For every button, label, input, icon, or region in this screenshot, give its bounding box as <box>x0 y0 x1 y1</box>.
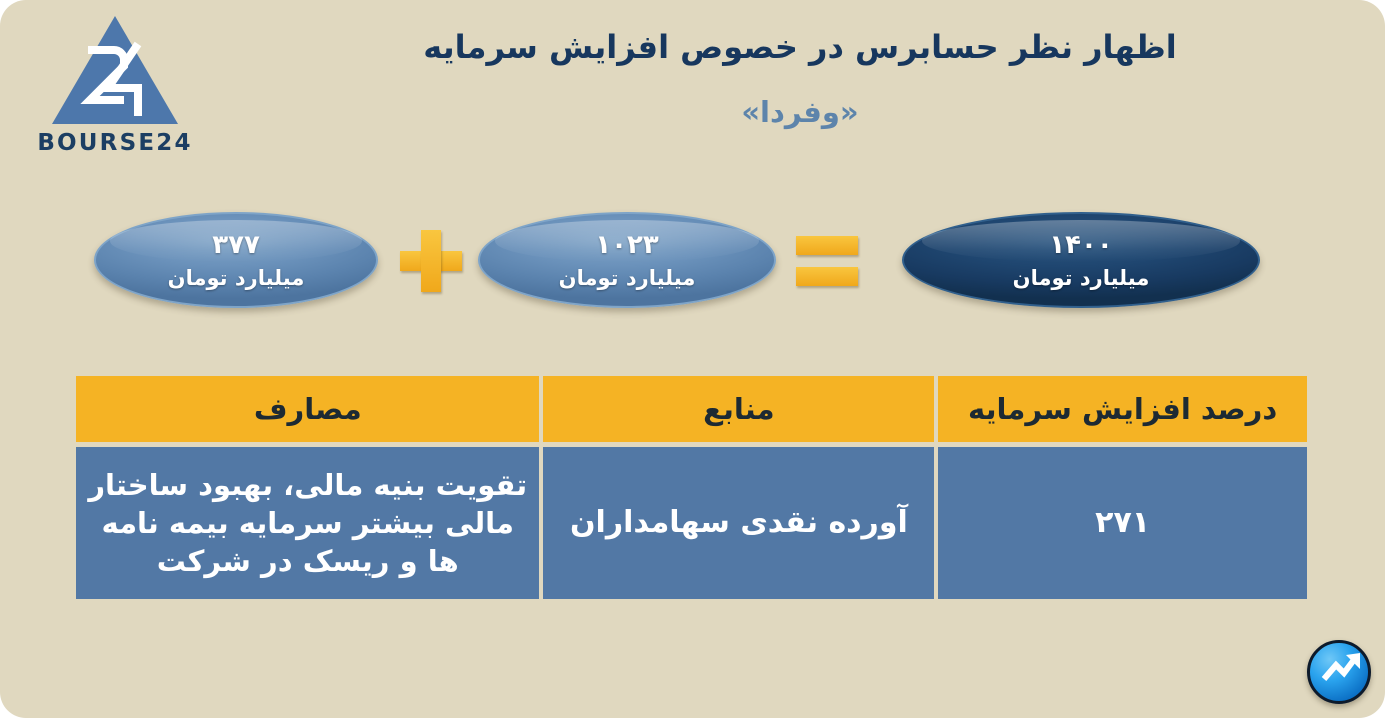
cell-sources: آورده نقدی سهامداران <box>543 447 934 599</box>
pill-value: ۳۷۷ <box>212 230 260 260</box>
summary-table: درصد افزایش سرمایه منابع مصارف ۲۷۱ آورده… <box>76 376 1307 599</box>
table-header-row: درصد افزایش سرمایه منابع مصارف <box>76 376 1307 442</box>
brand-logo: BOURSE24 <box>32 14 198 154</box>
pill-value: ۱۴۰۰ <box>1049 230 1112 260</box>
page-subtitle: «وفردا» <box>330 94 1270 132</box>
infographic-canvas: BOURSE24 اظهار نظر حسابرس در خصوص افزایش… <box>0 0 1385 718</box>
bourse24-triangle-logo-icon <box>50 14 180 126</box>
uptrend-chart-badge-icon <box>1307 640 1371 704</box>
brand-wordmark: BOURSE24 <box>32 130 198 156</box>
uptrend-arrow-glyph <box>1316 643 1368 695</box>
plus-icon <box>400 230 462 292</box>
value-pill-2: ۱۰۲۳ میلیارد تومان <box>478 212 776 308</box>
page-title: اظهار نظر حسابرس در خصوص افزایش سرمایه <box>330 26 1270 69</box>
cell-uses: تقویت بنیه مالی، بهبود ساختار مالی بیشتر… <box>76 447 539 599</box>
pill-value: ۱۰۲۳ <box>595 230 658 260</box>
equals-icon <box>796 234 858 288</box>
pill-unit: میلیارد تومان <box>168 266 305 290</box>
header-percent: درصد افزایش سرمایه <box>938 376 1307 442</box>
value-pill-1: ۳۷۷ میلیارد تومان <box>94 212 378 308</box>
header-uses: مصارف <box>76 376 539 442</box>
cell-percent: ۲۷۱ <box>938 447 1307 599</box>
value-pill-total: ۱۴۰۰ میلیارد تومان <box>902 212 1260 308</box>
table-row: ۲۷۱ آورده نقدی سهامداران تقویت بنیه مالی… <box>76 447 1307 599</box>
equation-row: ۳۷۷ میلیارد تومان ۱۰۲۳ میلیارد تومان ۱۴۰… <box>78 198 1288 324</box>
pill-unit: میلیارد تومان <box>1013 266 1150 290</box>
pill-unit: میلیارد تومان <box>559 266 696 290</box>
header-sources: منابع <box>543 376 934 442</box>
